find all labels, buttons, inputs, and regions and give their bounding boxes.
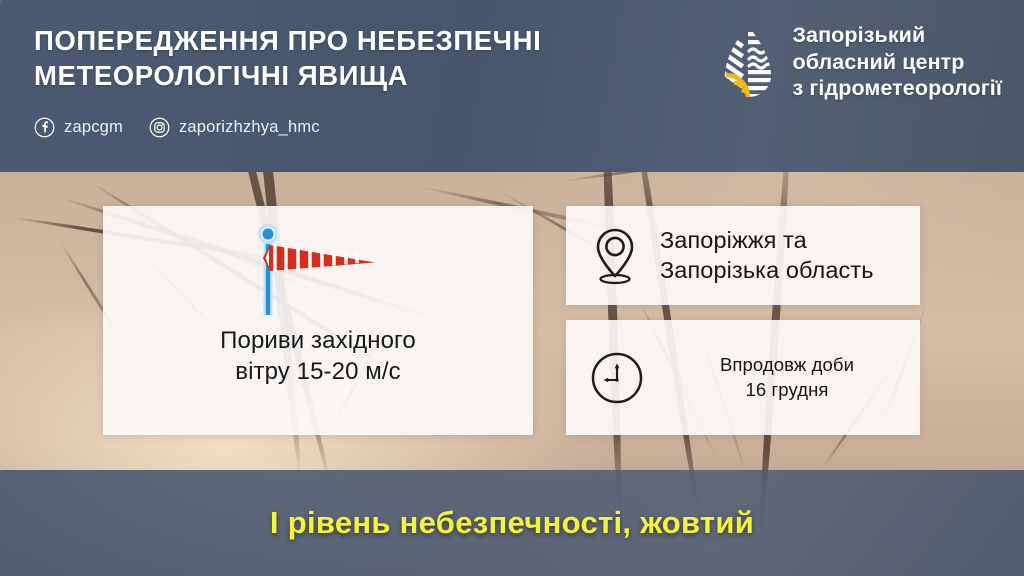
location-panel: Запоріжжя та Запорізька область [566,206,920,305]
organization-name: Запорізький обласний центр з гідрометеор… [792,22,1002,102]
social-links: zapcgm zaporizhzhya_hmc [34,117,320,138]
instagram-handle: zaporizhzhya_hmc [179,118,320,137]
weather-warning-poster: ПОПЕРЕДЖЕННЯ ПРО НЕБЕЗПЕЧНІ МЕТЕОРОЛОГІЧ… [0,0,1024,576]
facebook-handle: zapcgm [64,118,123,137]
time-panel: Впродовж доби 16 грудня [566,320,920,435]
location-text: Запоріжжя та Запорізька область [660,226,874,286]
warning-caption: Пориви західного вітру 15-20 м/с [220,325,416,387]
social-link-facebook[interactable]: zapcgm [34,117,123,138]
instagram-icon [149,117,170,138]
warning-panel: Пориви західного вітру 15-20 м/с [103,206,533,435]
hydrometeorology-leaf-logo-icon [719,25,777,99]
organization-logo: Запорізький обласний центр з гідрометеор… [719,22,1002,102]
danger-level-text: І рівень небезпечності, жовтий [270,505,754,541]
windsock-icon [243,223,393,315]
danger-level-band: І рівень небезпечності, жовтий [0,470,1024,576]
map-pin-icon [592,227,638,285]
time-text: Впродовж доби 16 грудня [672,353,902,403]
clock-icon [590,351,644,405]
facebook-icon [34,117,55,138]
social-link-instagram[interactable]: zaporizhzhya_hmc [149,117,320,138]
page-title: ПОПЕРЕДЖЕННЯ ПРО НЕБЕЗПЕЧНІ МЕТЕОРОЛОГІЧ… [34,24,541,94]
header-band: ПОПЕРЕДЖЕННЯ ПРО НЕБЕЗПЕЧНІ МЕТЕОРОЛОГІЧ… [0,0,1024,172]
